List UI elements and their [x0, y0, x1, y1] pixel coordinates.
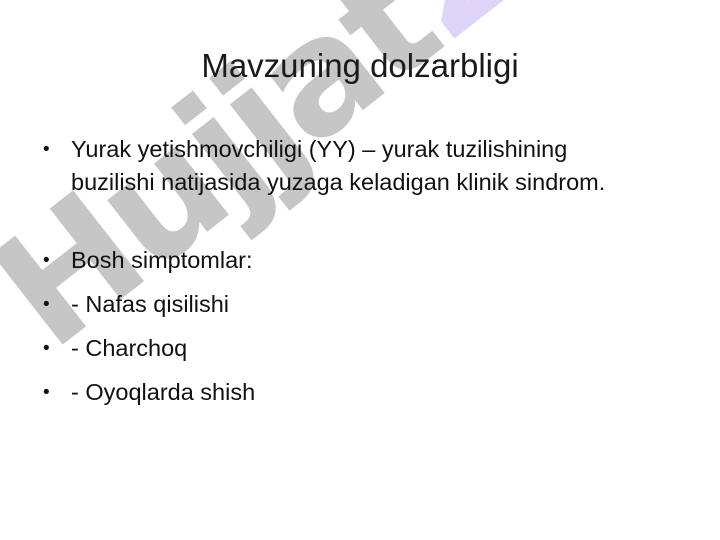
bullet-text: - Oyoqlarda shish	[71, 376, 638, 409]
slide-body: • Yurak yetishmovchiligi (YY) – yurak tu…	[38, 133, 638, 409]
slide-title: Mavzuning dolzarbligi	[0, 46, 720, 86]
paragraph-spacer	[38, 199, 638, 244]
bullet-text: Yurak yetishmovchiligi (YY) – yurak tuzi…	[71, 133, 638, 199]
bullet-marker-icon: •	[38, 288, 71, 321]
bullet-item-intro: • Yurak yetishmovchiligi (YY) – yurak tu…	[38, 133, 638, 199]
bullet-item-edema: • - Oyoqlarda shish	[38, 376, 638, 409]
bullet-marker-icon: •	[38, 376, 71, 409]
bullet-text: - Charchoq	[71, 332, 638, 365]
bullet-text: - Nafas qisilishi	[71, 288, 638, 321]
bullet-item-symptoms-heading: • Bosh simptomlar:	[38, 244, 638, 277]
bullet-item-dyspnea: • - Nafas qisilishi	[38, 288, 638, 321]
bullet-marker-icon: •	[38, 244, 71, 277]
bullet-text: Bosh simptomlar:	[71, 244, 638, 277]
bullet-marker-icon: •	[38, 133, 71, 166]
slide-canvas: Hujjat24 Mavzuning dolzarbligi • Yurak y…	[0, 0, 720, 540]
bullet-marker-icon: •	[38, 332, 71, 365]
bullet-item-fatigue: • - Charchoq	[38, 332, 638, 365]
